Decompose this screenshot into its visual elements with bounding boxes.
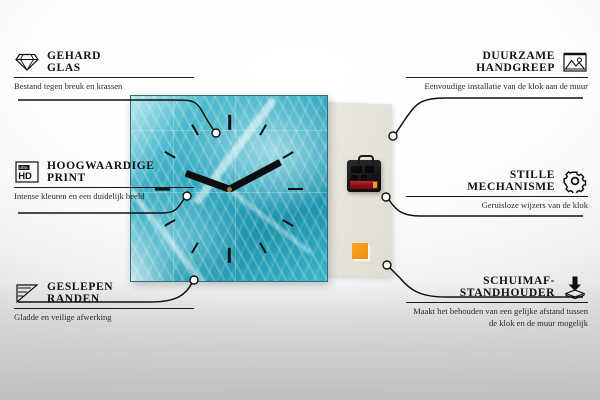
feature-title-line1: STILLE — [467, 169, 555, 181]
hour-marker — [191, 242, 199, 253]
feature-title-line2: GLAS — [47, 62, 101, 74]
divider — [406, 196, 588, 197]
svg-text:HD: HD — [18, 171, 32, 182]
battery — [350, 181, 378, 189]
feature-title-line1: SCHUIMAF- — [460, 275, 555, 287]
hour-marker — [164, 151, 175, 159]
svg-text:ultra: ultra — [19, 165, 28, 170]
ultra-hd-icon: ultra HD — [14, 160, 40, 184]
feature-title-line2: MECHANISME — [467, 181, 555, 193]
feature-title-line2: RANDEN — [47, 293, 113, 305]
hanger-loop-icon — [358, 155, 374, 164]
feature-duurzame-handgreep: DUURZAME HANDGREEP Eenvoudige installati… — [406, 50, 588, 93]
divider — [14, 308, 194, 309]
feature-title-line2: HANDGREEP — [476, 62, 555, 74]
feature-gehard-glas: GEHARD GLAS Bestand tegen breuk en krass… — [14, 50, 194, 93]
hour-marker — [228, 248, 231, 263]
hour-marker — [228, 115, 231, 130]
hour-marker — [259, 242, 267, 253]
beveled-edges-icon — [14, 281, 40, 305]
feature-geslepen-randen: GESLEPEN RANDEN Gladde en veilige afwerk… — [14, 281, 194, 324]
feature-description: Bestand tegen breuk en krassen — [14, 81, 194, 92]
feature-title-line1: DUURZAME — [476, 50, 555, 62]
feature-description: Geruisloze wijzers van de klok — [406, 200, 588, 211]
feature-description: Intense kleuren en een duidelijk beeld — [14, 191, 194, 202]
hour-marker — [282, 151, 293, 159]
hour-marker — [288, 188, 303, 191]
feature-title-line2: PRINT — [47, 172, 155, 184]
feature-title-line1: GEHARD — [47, 50, 101, 62]
feature-schuimafstandhouder: SCHUIMAF- STANDHOUDER Maakt het behouden… — [406, 275, 588, 329]
product-infographic: GEHARD GLAS Bestand tegen breuk en krass… — [0, 0, 600, 400]
divider — [406, 77, 588, 78]
feature-description: Gladde en veilige afwerking — [14, 312, 194, 323]
feature-title-line1: HOOGWAARDIGE — [47, 160, 155, 172]
divider — [406, 302, 588, 303]
diamond-icon — [14, 50, 40, 74]
feature-description: Maakt het behouden van een gelijke afsta… — [406, 306, 588, 329]
clock-hub — [227, 187, 232, 192]
foam-spacer-pad — [352, 243, 368, 259]
feature-stille-mechanisme: STILLE MECHANISME Geruisloze wijzers van… — [406, 169, 588, 212]
clock-mechanism — [347, 160, 381, 192]
divider — [14, 187, 194, 188]
feature-title-line1: GESLEPEN — [47, 281, 113, 293]
feature-title-line2: STANDHOUDER — [460, 287, 555, 299]
gear-icon — [562, 169, 588, 193]
feature-hoogwaardige-print: ultra HD HOOGWAARDIGE PRINT Intense kleu… — [14, 160, 194, 203]
foam-spacer-icon — [562, 275, 588, 299]
feature-description: Eenvoudige installatie van de klok aan d… — [406, 81, 588, 92]
picture-frame-icon — [562, 50, 588, 74]
hour-marker — [164, 219, 175, 227]
divider — [14, 77, 194, 78]
hour-marker — [282, 219, 293, 227]
